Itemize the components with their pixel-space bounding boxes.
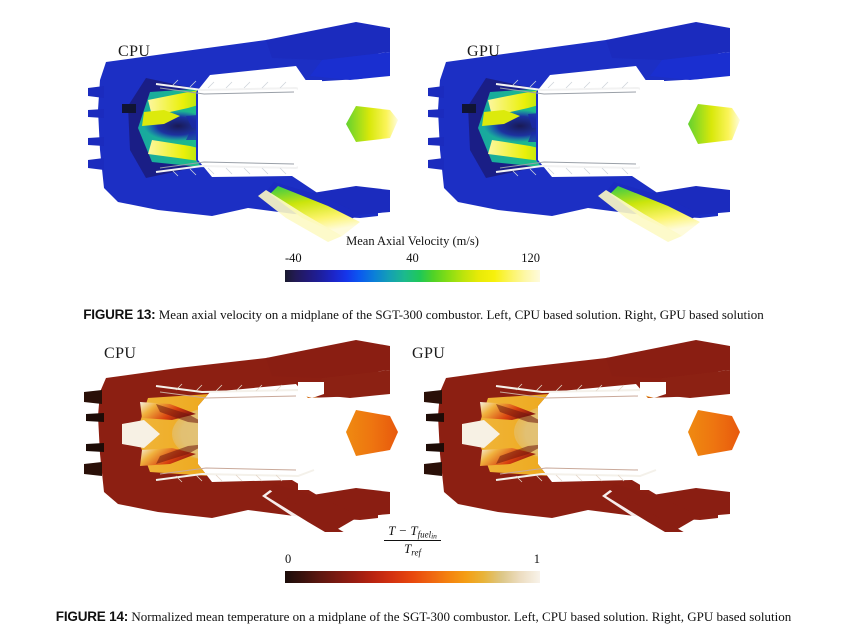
exit-corner-upper (294, 396, 318, 418)
temperature-legend: T − Tfuelin Tref 0 1 (285, 528, 540, 584)
figure-13-caption-prefix: FIGURE 13: (83, 307, 155, 322)
velocity-legend-tick-max: 120 (521, 251, 540, 266)
paper-page: CPU GPU Mean Axial Velocity (m/s) -40 40… (0, 0, 847, 627)
exhaust-nozzle-flow (688, 104, 740, 144)
exit-corner-lower (294, 456, 318, 478)
recirc-tail (196, 120, 248, 134)
figure-14-panels: CPU GPU T − Tfuelin Tref 0 1 (0, 332, 847, 590)
figure-13-panels: CPU GPU Mean Axial Velocity (m/s) -40 40… (0, 0, 847, 292)
fraction-numerator: T − Tfuelin (384, 524, 441, 541)
figure-13-caption: FIGURE 13: Mean axial velocity on a midp… (0, 307, 847, 323)
normalized-temperature-fraction: T − Tfuelin Tref (384, 524, 441, 558)
figure-14: CPU GPU T − Tfuelin Tref 0 1 FIGURE 14: … (0, 332, 847, 627)
figure-14-caption-prefix: FIGURE 14: (56, 609, 128, 624)
numerator-sub2: in (431, 531, 437, 540)
exit-shear-layer (274, 398, 314, 454)
exhaust-nozzle-flow (688, 410, 740, 456)
fuel-injector (122, 104, 136, 113)
denominator-sub: ref (411, 548, 421, 558)
recirc-tail (540, 120, 596, 134)
temperature-legend-tick-max: 1 (534, 552, 540, 567)
recirc-lobe-upper (528, 110, 604, 128)
velocity-legend-tick-mid: 40 (406, 251, 419, 266)
velocity-colorbar (285, 270, 540, 282)
flange-lower (298, 160, 322, 176)
shear-layer-lower (600, 148, 658, 162)
velocity-legend-title: Mean Axial Velocity (m/s) (285, 234, 540, 249)
figure-13: CPU GPU Mean Axial Velocity (m/s) -40 40… (0, 0, 847, 332)
exhaust-nozzle-flow (346, 106, 398, 142)
velocity-legend-tick-min: -40 (285, 251, 302, 266)
flange-upper (640, 80, 664, 96)
exit-corner-upper (636, 396, 660, 418)
flange-lower (298, 474, 324, 490)
figure-14-caption: FIGURE 14: Normalized mean temperature o… (0, 609, 847, 625)
shear-layer-lower (256, 148, 314, 162)
flange-lower (640, 474, 666, 490)
velocity-legend: Mean Axial Velocity (m/s) -40 40 120 (285, 234, 540, 284)
temperature-colorbar (285, 571, 540, 583)
gpu-temperature-panel-label: GPU (412, 345, 445, 363)
recirc-lobe-lower (528, 130, 606, 142)
fuel-injector (462, 104, 476, 113)
temperature-legend-tick-min: 0 (285, 552, 291, 567)
temperature-legend-title: T − Tfuelin Tref (285, 524, 540, 558)
exit-corner-lower (636, 456, 660, 478)
cpu-velocity-panel-label: CPU (118, 43, 150, 61)
flange-lower (640, 160, 664, 176)
numerator-sub: fuel (418, 529, 432, 539)
fraction-denominator: Tref (384, 541, 441, 558)
figure-14-caption-text: Normalized mean temperature on a midplan… (131, 609, 791, 624)
numerator-main: T − T (388, 523, 418, 538)
figure-13-caption-text: Mean axial velocity on a midplane of the… (159, 307, 764, 322)
gpu-velocity-panel-label: GPU (467, 43, 500, 61)
exhaust-nozzle-flow (346, 410, 398, 456)
exit-shear-layer (618, 398, 658, 454)
cpu-temperature-panel-label: CPU (104, 345, 136, 363)
flange-upper (298, 80, 322, 96)
